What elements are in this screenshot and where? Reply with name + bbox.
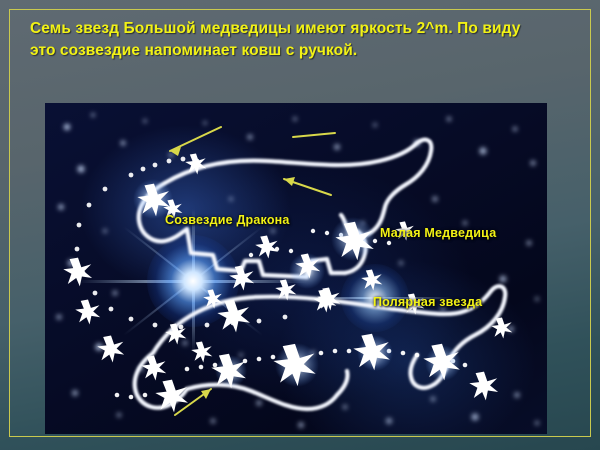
label-malaya-medveditsa: Малая Медведица: [380, 226, 496, 240]
arrow-line-drakon: [170, 127, 221, 151]
slide-title: Семь звезд Большой медведицы имеют яркос…: [30, 18, 550, 62]
constellation-photo: Созвездие Дракона Малая Медведица Полярн…: [45, 103, 547, 434]
arrow-line-malaya: [293, 133, 335, 137]
constellation-overlay: [45, 103, 547, 434]
label-sozvezdie-drakona: Созвездие Дракона: [165, 213, 290, 227]
presentation-slide: Семь звезд Большой медведицы имеют яркос…: [0, 0, 600, 450]
draco-dotted-line: [75, 157, 288, 330]
label-polyarnaya-zvezda: Полярная звезда: [373, 295, 482, 309]
